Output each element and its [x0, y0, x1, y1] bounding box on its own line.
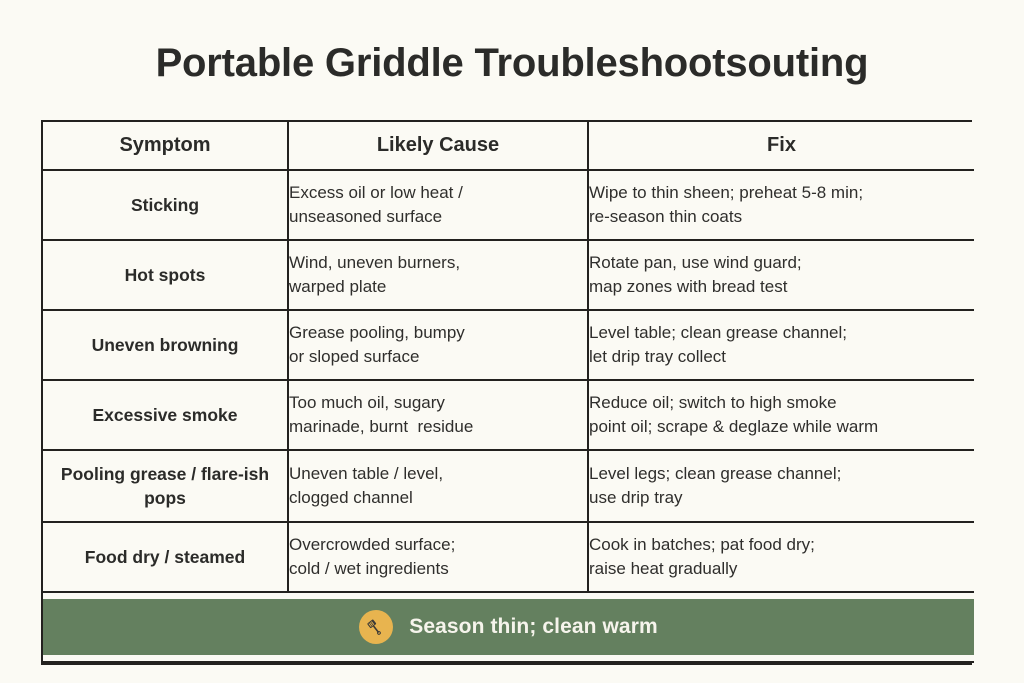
cell-likely-cause: Excess oil or low heat / unseasoned surf… [288, 170, 588, 240]
cause-line: Grease pooling, bumpy [289, 321, 587, 345]
cell-fix: Level legs; clean grease channel; use dr… [588, 450, 974, 522]
symptom-line: Hot spots [125, 265, 206, 285]
table-row: Sticking Excess oil or low heat / unseas… [43, 170, 974, 240]
page-title: Portable Griddle Troubleshootsouting [0, 40, 1024, 86]
tip-banner-text: Season thin; clean warm [409, 615, 658, 639]
fix-line: Level legs; clean grease channel; [589, 462, 974, 486]
cause-line: Too much oil, sugary [289, 391, 587, 415]
cell-symptom: Food dry / steamed [43, 522, 288, 592]
table-row: Pooling grease / flare-ish pops Uneven t… [43, 450, 974, 522]
table-row: Food dry / steamed Overcrowded surface; … [43, 522, 974, 592]
spatula-icon [359, 610, 393, 644]
tip-banner: Season thin; clean warm [43, 599, 974, 655]
cause-line: Wind, uneven burners, [289, 251, 587, 275]
cell-likely-cause: Uneven table / level, clogged channel [288, 450, 588, 522]
symptom-line: Food dry / steamed [85, 547, 245, 567]
symptom-line: Sticking [131, 195, 199, 215]
cause-line: unseasoned surface [289, 205, 587, 229]
fix-line: point oil; scrape & deglaze while warm [589, 415, 974, 439]
cell-fix: Wipe to thin sheen; preheat 5-8 min; re-… [588, 170, 974, 240]
column-header-symptom: Symptom [43, 122, 288, 170]
cell-fix: Cook in batches; pat food dry; raise hea… [588, 522, 974, 592]
cause-line: marinade, burnt residue [289, 415, 587, 439]
symptom-line: Pooling grease / [61, 464, 196, 484]
cell-likely-cause: Grease pooling, bumpy or sloped surface [288, 310, 588, 380]
fix-line: Wipe to thin sheen; preheat 5-8 min; [589, 181, 974, 205]
infographic-page: Portable Griddle Troubleshootsouting Sym… [0, 0, 1024, 683]
cell-likely-cause: Overcrowded surface; cold / wet ingredie… [288, 522, 588, 592]
cell-symptom: Sticking [43, 170, 288, 240]
fix-line: use drip tray [589, 486, 974, 510]
fix-line: map zones with bread test [589, 275, 974, 299]
cause-line: Excess oil or low heat / [289, 181, 587, 205]
fix-line: Reduce oil; switch to high smoke [589, 391, 974, 415]
cell-fix: Reduce oil; switch to high smoke point o… [588, 380, 974, 450]
cell-footer-banner: Season thin; clean warm [43, 592, 974, 662]
table-header: Symptom Likely Cause Fix [43, 122, 974, 170]
cell-likely-cause: Wind, uneven burners, warped plate [288, 240, 588, 310]
table-row: Hot spots Wind, uneven burners, warped p… [43, 240, 974, 310]
symptom-line: Uneven browning [92, 335, 239, 355]
cause-line: cold / wet ingredients [289, 557, 587, 581]
cell-symptom: Pooling grease / flare-ish pops [43, 450, 288, 522]
column-header-fix: Fix [588, 122, 974, 170]
troubleshooting-table: Symptom Likely Cause Fix Sticking Excess… [43, 122, 974, 663]
column-header-likely-cause: Likely Cause [288, 122, 588, 170]
cell-symptom: Uneven browning [43, 310, 288, 380]
cause-line: Overcrowded surface; [289, 533, 587, 557]
symptom-line: Excessive smoke [93, 405, 238, 425]
table-header-row: Symptom Likely Cause Fix [43, 122, 974, 170]
troubleshooting-table-container: Symptom Likely Cause Fix Sticking Excess… [41, 120, 972, 665]
fix-line: let drip tray collect [589, 345, 974, 369]
cause-line: clogged channel [289, 486, 587, 510]
table-row: Uneven browning Grease pooling, bumpy or… [43, 310, 974, 380]
cell-symptom: Hot spots [43, 240, 288, 310]
cell-fix: Rotate pan, use wind guard; map zones wi… [588, 240, 974, 310]
table-body: Sticking Excess oil or low heat / unseas… [43, 170, 974, 662]
cause-line: Uneven table / level, [289, 462, 587, 486]
cell-fix: Level table; clean grease channel; let d… [588, 310, 974, 380]
fix-line: raise heat gradually [589, 557, 974, 581]
fix-line: re-season thin coats [589, 205, 974, 229]
cause-line: or sloped surface [289, 345, 587, 369]
fix-line: Cook in batches; pat food dry; [589, 533, 974, 557]
cause-line: warped plate [289, 275, 587, 299]
table-row: Excessive smoke Too much oil, sugary mar… [43, 380, 974, 450]
table-footer-row: Season thin; clean warm [43, 592, 974, 662]
cell-symptom: Excessive smoke [43, 380, 288, 450]
fix-line: Level table; clean grease channel; [589, 321, 974, 345]
fix-line: Rotate pan, use wind guard; [589, 251, 974, 275]
cell-likely-cause: Too much oil, sugary marinade, burnt res… [288, 380, 588, 450]
